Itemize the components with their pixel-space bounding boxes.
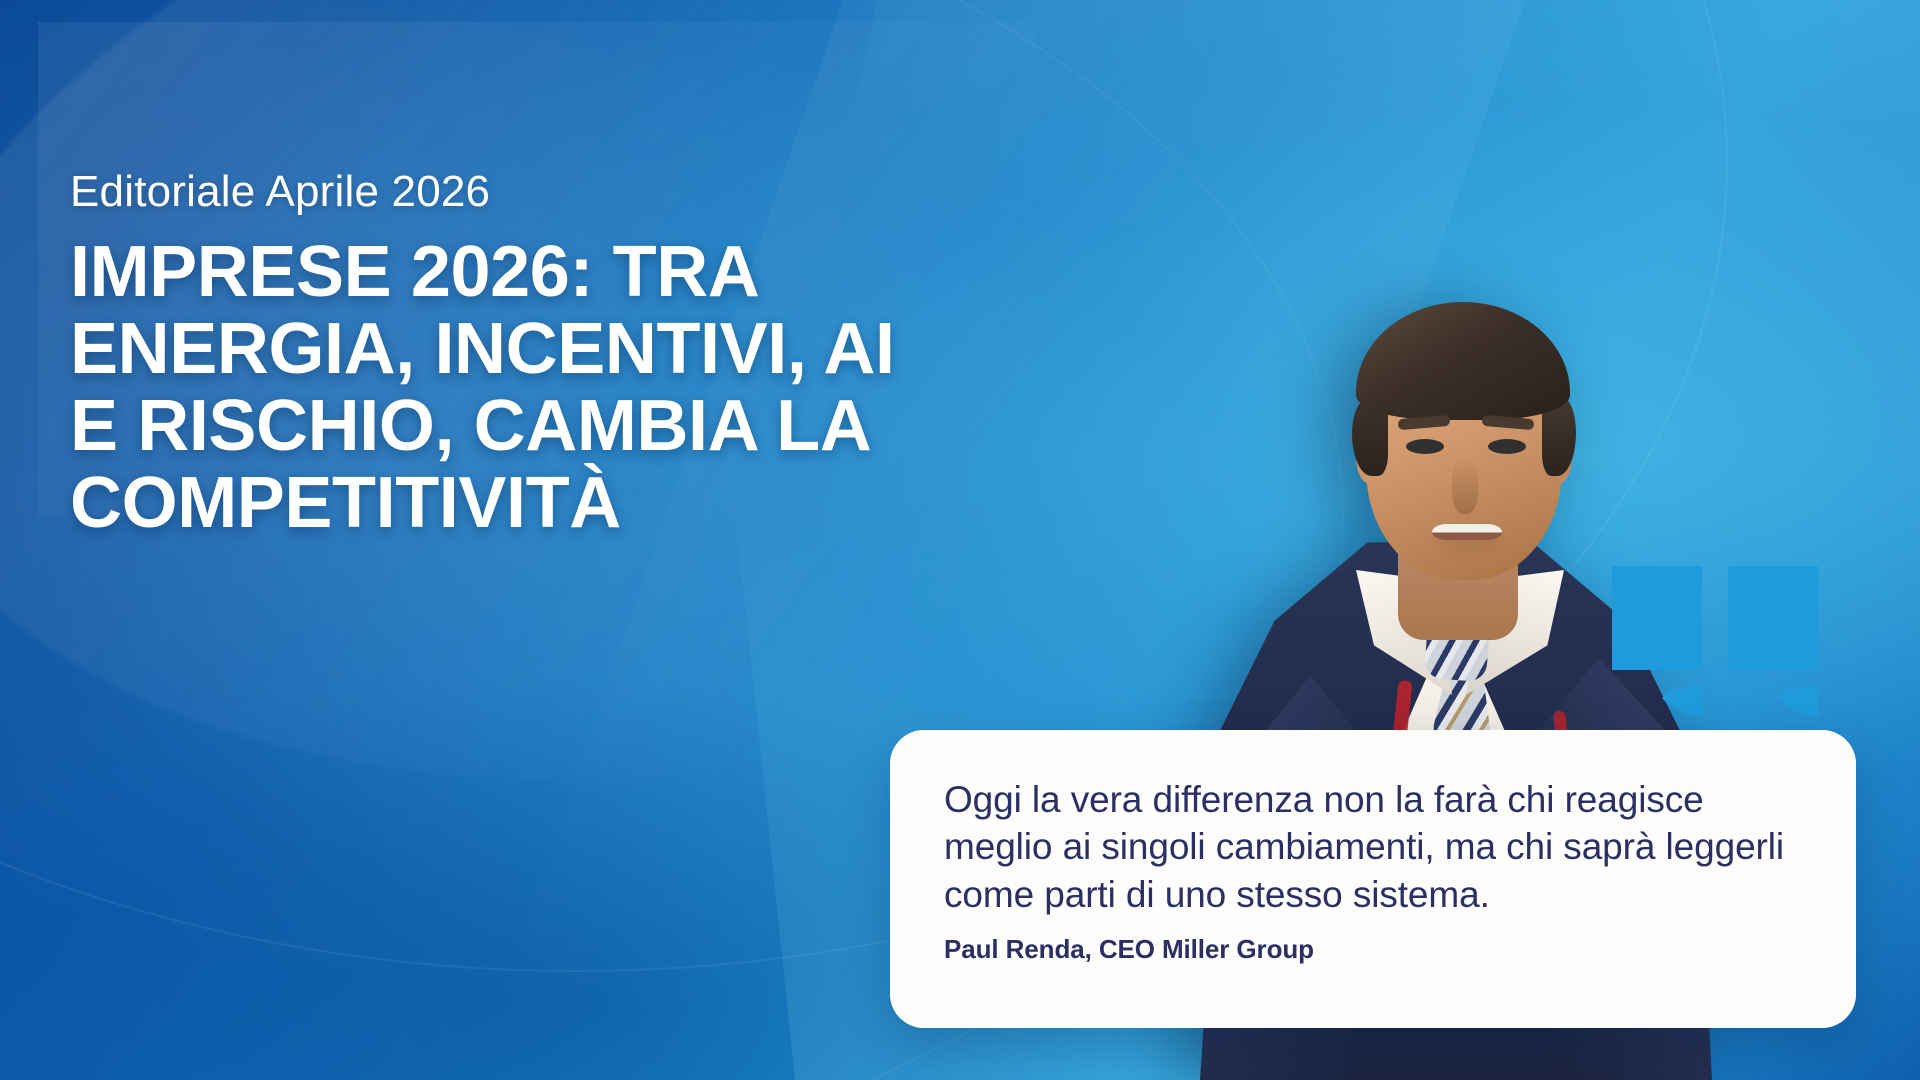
quote-glyph-left bbox=[1612, 566, 1702, 716]
hero-text-block: Editoriale Aprile 2026 IMPRESE 2026: TRA… bbox=[70, 168, 1050, 543]
headline-line-4: COMPETITIVITÀ bbox=[70, 465, 1050, 542]
quote-text: Oggi la vera differenza non la farà chi … bbox=[944, 776, 1804, 918]
portrait-eye-right bbox=[1488, 439, 1526, 454]
portrait-hair bbox=[1356, 302, 1570, 420]
headline-line-1: IMPRESE 2026: TRA bbox=[70, 234, 1050, 311]
portrait-mouth bbox=[1432, 524, 1502, 540]
quote-author: Paul Renda, CEO Miller Group bbox=[944, 934, 1804, 965]
portrait-eye-left bbox=[1406, 439, 1444, 454]
editorial-eyebrow: Editoriale Aprile 2026 bbox=[70, 168, 1050, 216]
quote-card: Oggi la vera differenza non la farà chi … bbox=[890, 730, 1856, 1028]
portrait-nose bbox=[1452, 458, 1478, 514]
headline-line-3: E RISCHIO, CAMBIA LA bbox=[70, 388, 1050, 465]
editorial-hero-banner: Editoriale Aprile 2026 IMPRESE 2026: TRA… bbox=[0, 0, 1920, 1080]
quote-mark-icon bbox=[1612, 566, 1838, 716]
quote-glyph-right bbox=[1728, 566, 1818, 716]
headline-line-2: ENERGIA, INCENTIVI, AI bbox=[70, 311, 1050, 388]
page-title: IMPRESE 2026: TRA ENERGIA, INCENTIVI, AI… bbox=[70, 234, 1050, 542]
